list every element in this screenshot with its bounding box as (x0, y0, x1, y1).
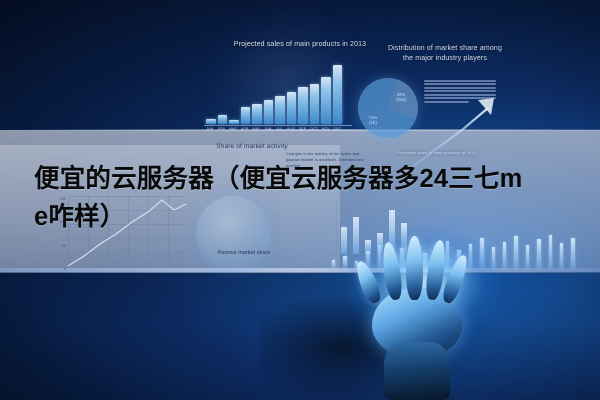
page-title-line-1: 便宜的云服务器（便宜云服务器多24三七m (34, 160, 574, 198)
screenshot-canvas: Projected sales of main products in 2013… (0, 0, 600, 400)
page-title: 便宜的云服务器（便宜云服务器多24三七m e咋样） (34, 160, 574, 236)
page-title-line-2: e咋样） (34, 198, 574, 236)
